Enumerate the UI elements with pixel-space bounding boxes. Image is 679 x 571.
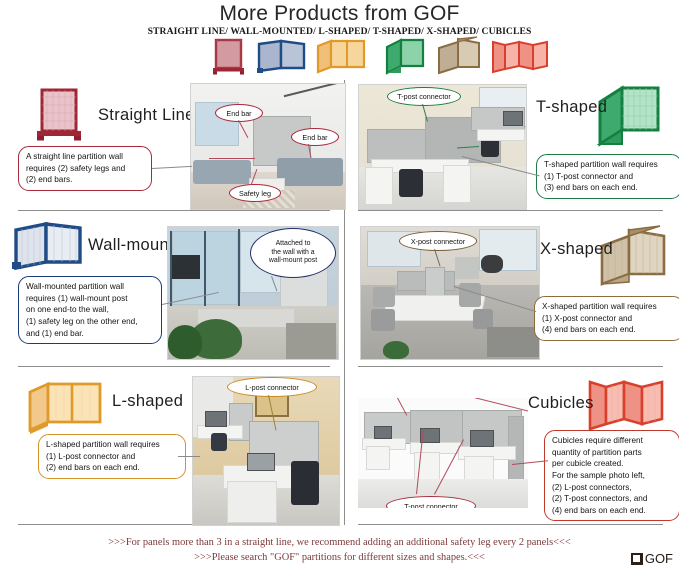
callout-line: requires (1) wall-mount post bbox=[26, 293, 154, 305]
straight-line-panel-icon bbox=[212, 38, 246, 76]
x-shaped-panel-icon bbox=[433, 36, 483, 76]
horizontal-divider-top-right bbox=[358, 210, 663, 211]
callout-line: (2) end bars. bbox=[26, 174, 144, 186]
callout-line: X-shaped partition wall requires bbox=[542, 301, 676, 313]
tag-wall-mount-post: Attached to the wall with a wall-mount p… bbox=[250, 228, 336, 278]
photo-t-shaped: T-post connector bbox=[358, 84, 527, 210]
gof-logo-text: GOF bbox=[645, 551, 673, 566]
callout-line: per cubicle created. bbox=[552, 458, 672, 470]
callout-straight-line: A straight line partition wall requires … bbox=[18, 146, 152, 191]
t-shaped-icon bbox=[584, 84, 662, 150]
section-cubicles: L-post connector T-post connector Cubicl… bbox=[344, 368, 679, 524]
section-l-shaped: L-shaped L-post connector L-shaped parti… bbox=[0, 368, 344, 524]
callout-line: (4) end bars on each end. bbox=[542, 324, 676, 336]
t-shaped-panel-icon bbox=[377, 36, 425, 76]
tag-l-post-connector-left: L-post connector bbox=[227, 377, 317, 397]
callout-line: (2) T-post connectors, and bbox=[552, 493, 672, 505]
photo-x-shaped: X-post connector bbox=[360, 226, 540, 360]
section-x-shaped: X-post connector X-shaped X-shaped parti… bbox=[344, 212, 679, 366]
horizontal-divider-bottom-right bbox=[358, 524, 663, 525]
callout-line: requires (2) safety legs and bbox=[26, 163, 144, 175]
footer-line-2: >>>Please search "GOF" partitions for di… bbox=[0, 552, 679, 563]
tag-line: wall-mount post bbox=[269, 257, 317, 266]
callout-t-shaped: T-shaped partition wall requires (1) T-p… bbox=[536, 154, 679, 199]
callout-line: Wall-mounted partition wall bbox=[26, 281, 154, 293]
callout-line: (4) end bars on each end. bbox=[552, 505, 672, 517]
callout-line: (1) safety leg on the other end, bbox=[26, 316, 154, 328]
tag-x-post-connector: X-post connector bbox=[399, 231, 477, 251]
label-straight-line: Straight Line bbox=[98, 106, 195, 125]
tag-line: the wall with a bbox=[271, 249, 314, 258]
panel-type-icon-strip bbox=[205, 36, 485, 76]
photo-straight-line: End bar End bar Safety leg bbox=[190, 83, 346, 210]
tag-safety-leg: Safety leg bbox=[229, 184, 281, 202]
leader-mid-arrow bbox=[209, 158, 255, 159]
wall-mounted-icon bbox=[12, 220, 84, 274]
cubicles-panel-icon bbox=[491, 38, 553, 76]
callout-line: (1) X-post connector and bbox=[542, 313, 676, 325]
callout-line: L-shaped partition wall requires bbox=[46, 439, 178, 451]
cubicles-icon bbox=[586, 376, 672, 438]
l-shaped-panel-icon bbox=[315, 38, 367, 76]
tag-line: Attached to bbox=[276, 240, 311, 249]
callout-line: on one end-to the wall, bbox=[26, 304, 154, 316]
section-t-shaped: T-post connector T-shaped T-shaped parti… bbox=[344, 80, 679, 210]
page-title: More Products from GOF bbox=[0, 2, 679, 26]
callout-line: and (1) end bar. bbox=[26, 328, 154, 340]
straight-line-icon bbox=[36, 88, 82, 144]
label-x-shaped: X-shaped bbox=[540, 240, 613, 259]
callout-line: For the sample photo left, bbox=[552, 470, 672, 482]
callout-x-shaped: X-shaped partition wall requires (1) X-p… bbox=[534, 296, 679, 341]
callout-cubicles: Cubicles require different quantity of p… bbox=[544, 430, 679, 521]
footer-line-1: >>>For panels more than 3 in a straight … bbox=[0, 537, 679, 548]
photo-cubicles: L-post connector T-post connector bbox=[358, 398, 528, 508]
horizontal-divider-mid-left bbox=[18, 366, 330, 367]
leader-callout-straight-line bbox=[152, 166, 192, 169]
callout-wall-mounted: Wall-mounted partition wall requires (1)… bbox=[18, 276, 162, 344]
photo-l-shaped: L-post connector bbox=[192, 376, 340, 526]
callout-line: (1) L-post connector and bbox=[46, 451, 178, 463]
callout-line: T-shaped partition wall requires bbox=[544, 159, 674, 171]
section-wall-mounted: Wall-mounted Attached to the wall with a… bbox=[0, 212, 344, 366]
callout-line: (2) L-post connectors, bbox=[552, 482, 672, 494]
infographic-page: More Products from GOF STRAIGHT LINE/ WA… bbox=[0, 0, 679, 571]
gof-logo-mark bbox=[631, 553, 643, 565]
section-straight-line: Straight Line End bar End bar Safety leg… bbox=[0, 80, 344, 210]
callout-line: (3) end bars on each end. bbox=[544, 182, 674, 194]
tag-end-bar-2: End bar bbox=[291, 128, 339, 146]
callout-line: A straight line partition wall bbox=[26, 151, 144, 163]
label-l-shaped: L-shaped bbox=[112, 392, 183, 411]
callout-l-shaped: L-shaped partition wall requires (1) L-p… bbox=[38, 434, 186, 479]
label-cubicles: Cubicles bbox=[528, 394, 594, 413]
label-t-shaped: T-shaped bbox=[536, 98, 607, 117]
l-shaped-icon bbox=[26, 380, 104, 436]
callout-line: quantity of partition parts bbox=[552, 447, 672, 459]
horizontal-divider-top-left bbox=[18, 210, 330, 211]
callout-line: (2) end bars on each end. bbox=[46, 462, 178, 474]
leader-callout-l-shaped bbox=[178, 456, 200, 457]
callout-line: (1) T-post connector and bbox=[544, 171, 674, 183]
tag-t-post-connector: T-post connector bbox=[387, 87, 461, 106]
horizontal-divider-mid-right bbox=[358, 366, 663, 367]
wall-mounted-panel-icon bbox=[257, 38, 307, 76]
callout-line: Cubicles require different bbox=[552, 435, 672, 447]
gof-logo: GOF bbox=[631, 551, 673, 566]
